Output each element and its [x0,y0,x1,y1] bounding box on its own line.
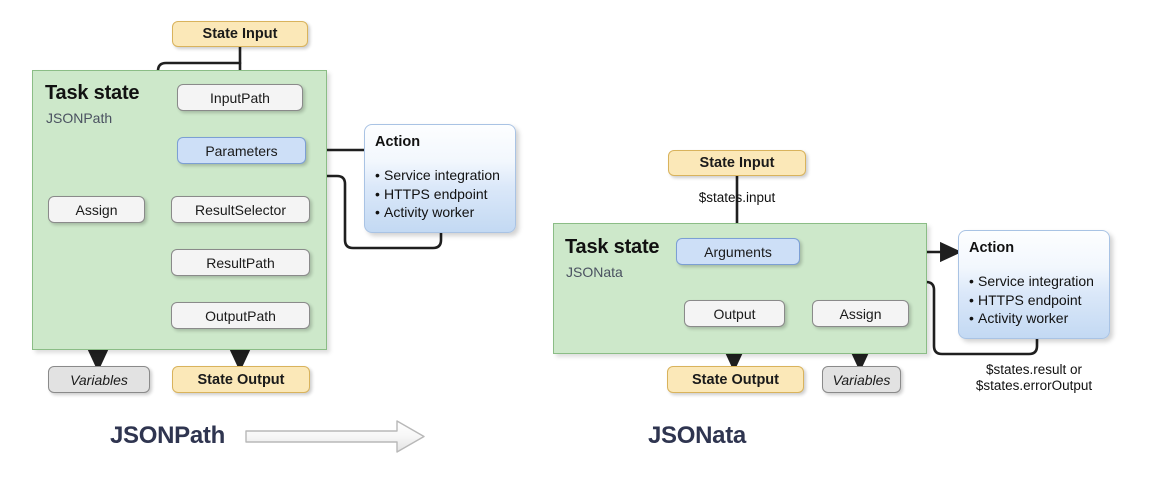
left-node-parameters: Parameters [177,137,306,164]
right-action-item-1: •HTTPS endpoint [969,291,1094,310]
right-panel-subtitle: JSONata [566,264,623,280]
transition-arrow-icon [246,421,424,452]
left-action-list: •Service integration •HTTPS endpoint •Ac… [375,166,500,222]
right-action-title: Action [969,240,1014,256]
right-action-list: •Service integration •HTTPS endpoint •Ac… [969,272,1094,328]
right-state-output-box: State Output [667,366,804,393]
left-action-item-1: •HTTPS endpoint [375,185,500,204]
left-node-result-selector: ResultSelector [171,196,310,223]
right-action-item-0: •Service integration [969,272,1094,291]
right-result-edge-label: $states.result or $states.errorOutput [958,362,1110,394]
right-result-edge-label-line1: $states.result or [958,362,1110,378]
right-node-arguments: Arguments [676,238,800,265]
footer-label-jsonpath: JSONPath [110,422,225,450]
right-state-input-box: State Input [668,150,806,176]
right-result-edge-label-line2: $states.errorOutput [958,378,1110,394]
right-input-edge-label: $states.input [672,190,802,206]
left-variables-box: Variables [48,366,150,393]
right-action-item-2: •Activity worker [969,309,1094,328]
footer-label-jsonata: JSONata [648,422,746,450]
left-state-output-box: State Output [172,366,310,393]
left-action-item-0: •Service integration [375,166,500,185]
right-node-assign: Assign [812,300,909,327]
left-state-input-box: State Input [172,21,308,47]
left-action-item-2: •Activity worker [375,203,500,222]
right-variables-box: Variables [822,366,901,393]
left-node-assign: Assign [48,196,145,223]
diagram-canvas: Task state JSONPath State Input InputPat… [0,0,1150,489]
left-panel-title: Task state [45,82,139,105]
right-panel-title: Task state [565,236,659,259]
right-node-output: Output [684,300,785,327]
left-node-input-path: InputPath [177,84,303,111]
left-action-title: Action [375,134,420,150]
left-node-output-path: OutputPath [171,302,310,329]
left-panel-subtitle: JSONPath [46,110,112,126]
left-node-result-path: ResultPath [171,249,310,276]
